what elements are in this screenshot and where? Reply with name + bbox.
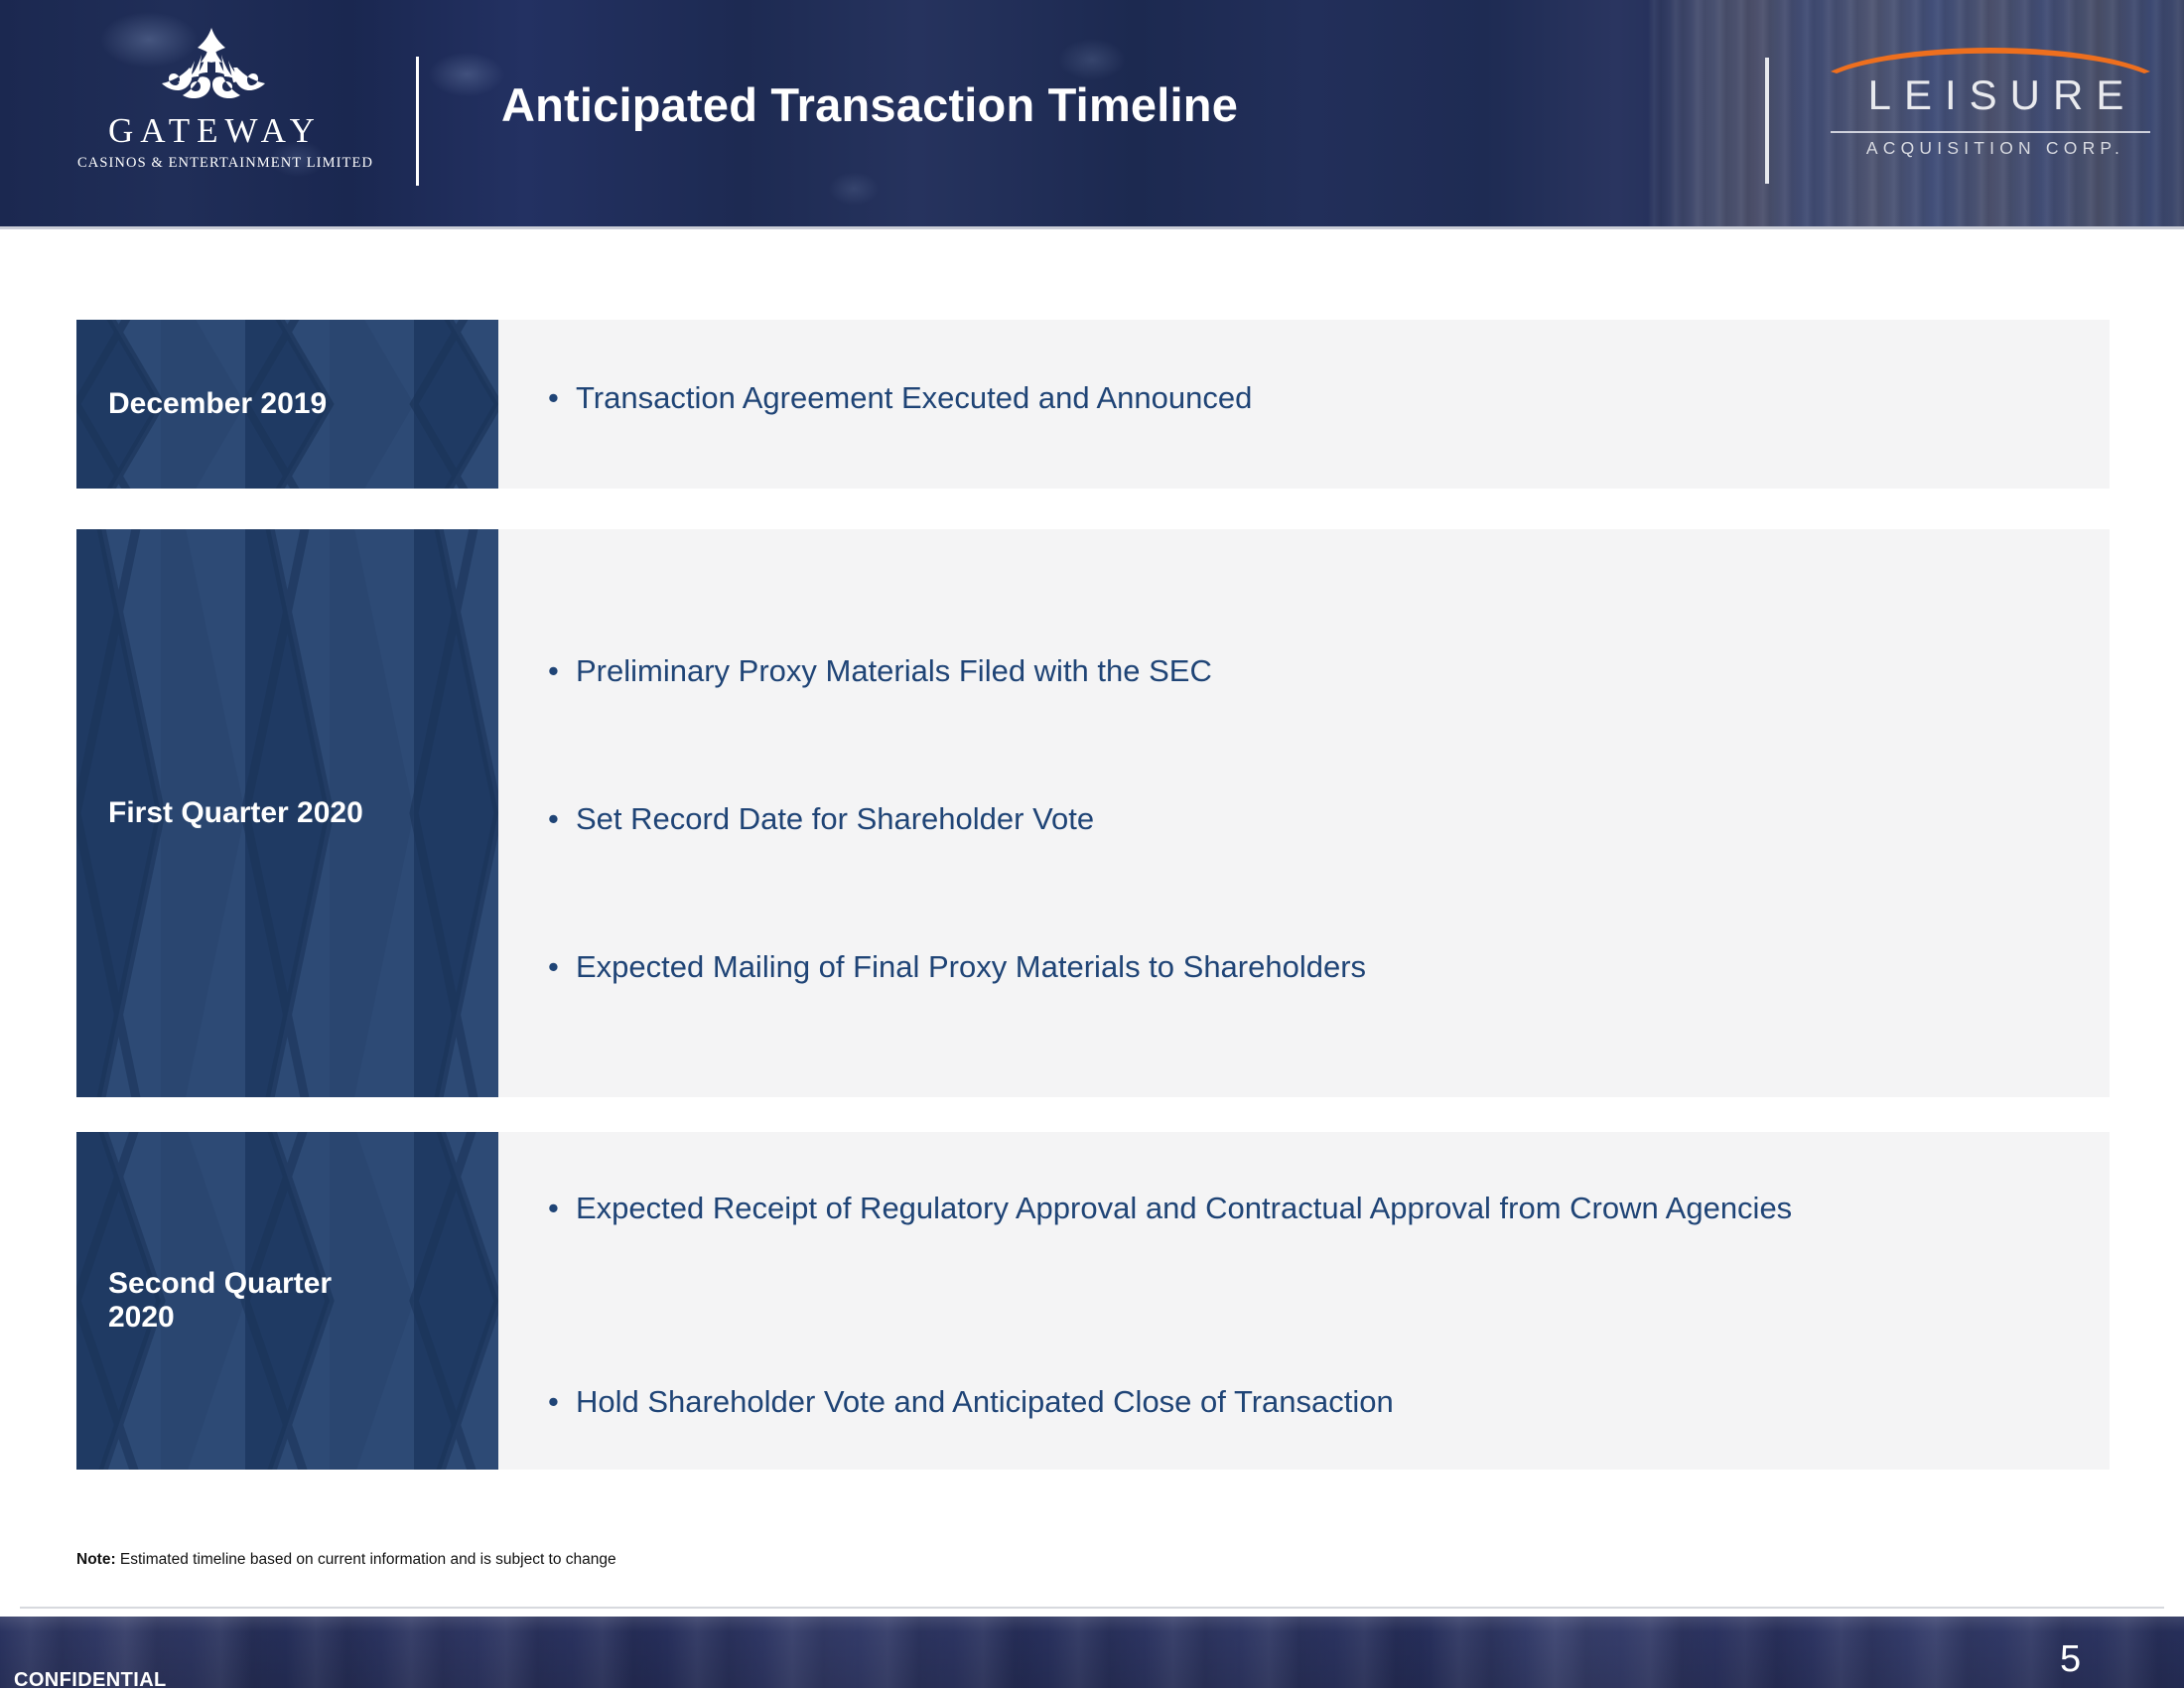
bullet-icon: • — [538, 1192, 576, 1226]
timeline-row-label-text: First Quarter 2020 — [76, 796, 381, 831]
list-item-text: Transaction Agreement Executed and Annou… — [576, 381, 2047, 416]
list-item: • Expected Mailing of Final Proxy Materi… — [538, 950, 2087, 985]
bullet-icon: • — [538, 381, 576, 416]
timeline: December 2019 • Transaction Agreement Ex… — [0, 0, 2184, 1688]
list-item-text: Preliminary Proxy Materials Filed with t… — [576, 654, 2087, 689]
timeline-row-bullets: • Expected Receipt of Regulatory Approva… — [498, 1132, 2110, 1470]
list-item-text: Expected Mailing of Final Proxy Material… — [576, 950, 2087, 985]
timeline-row: First Quarter 2020 • Preliminary Proxy M… — [76, 529, 2110, 1097]
list-item: • Set Record Date for Shareholder Vote — [538, 802, 2087, 837]
footnote-text: Estimated timeline based on current info… — [116, 1551, 616, 1568]
bullet-icon: • — [538, 654, 576, 689]
timeline-row-label-text: December 2019 — [76, 387, 344, 422]
timeline-row-bullets: • Transaction Agreement Executed and Ann… — [498, 320, 2110, 489]
timeline-row-label: First Quarter 2020 — [76, 529, 498, 1097]
timeline-row-label-text: Second Quarter 2020 — [76, 1267, 394, 1336]
slide: GATEWAY CASINOS & ENTERTAINMENT LIMITED … — [0, 0, 2184, 1688]
bullet-icon: • — [538, 802, 576, 837]
list-item: • Hold Shareholder Vote and Anticipated … — [538, 1385, 2087, 1420]
bullet-icon: • — [538, 1385, 576, 1420]
list-item-text: Expected Receipt of Regulatory Approval … — [576, 1192, 2007, 1226]
footnote-divider — [20, 1607, 2164, 1609]
list-item: • Transaction Agreement Executed and Ann… — [538, 381, 2047, 416]
list-item: • Preliminary Proxy Materials Filed with… — [538, 654, 2087, 689]
bullet-icon: • — [538, 950, 576, 985]
slide-footer — [0, 1617, 2184, 1688]
timeline-row-bullets: • Preliminary Proxy Materials Filed with… — [498, 529, 2110, 1097]
footnote-prefix: Note: — [76, 1551, 116, 1568]
footer-background-image — [0, 1617, 2184, 1688]
page-number: 5 — [2060, 1638, 2081, 1681]
timeline-row: Second Quarter 2020 • Expected Receipt o… — [76, 1132, 2110, 1470]
confidential-label: CONFIDENTIAL — [14, 1669, 167, 1692]
footnote: Note: Estimated timeline based on curren… — [76, 1551, 616, 1569]
timeline-row: December 2019 • Transaction Agreement Ex… — [76, 320, 2110, 489]
list-item: • Expected Receipt of Regulatory Approva… — [538, 1192, 2007, 1226]
timeline-row-label: December 2019 — [76, 320, 498, 489]
list-item-text: Hold Shareholder Vote and Anticipated Cl… — [576, 1385, 2087, 1420]
list-item-text: Set Record Date for Shareholder Vote — [576, 802, 2087, 837]
timeline-row-label: Second Quarter 2020 — [76, 1132, 498, 1470]
